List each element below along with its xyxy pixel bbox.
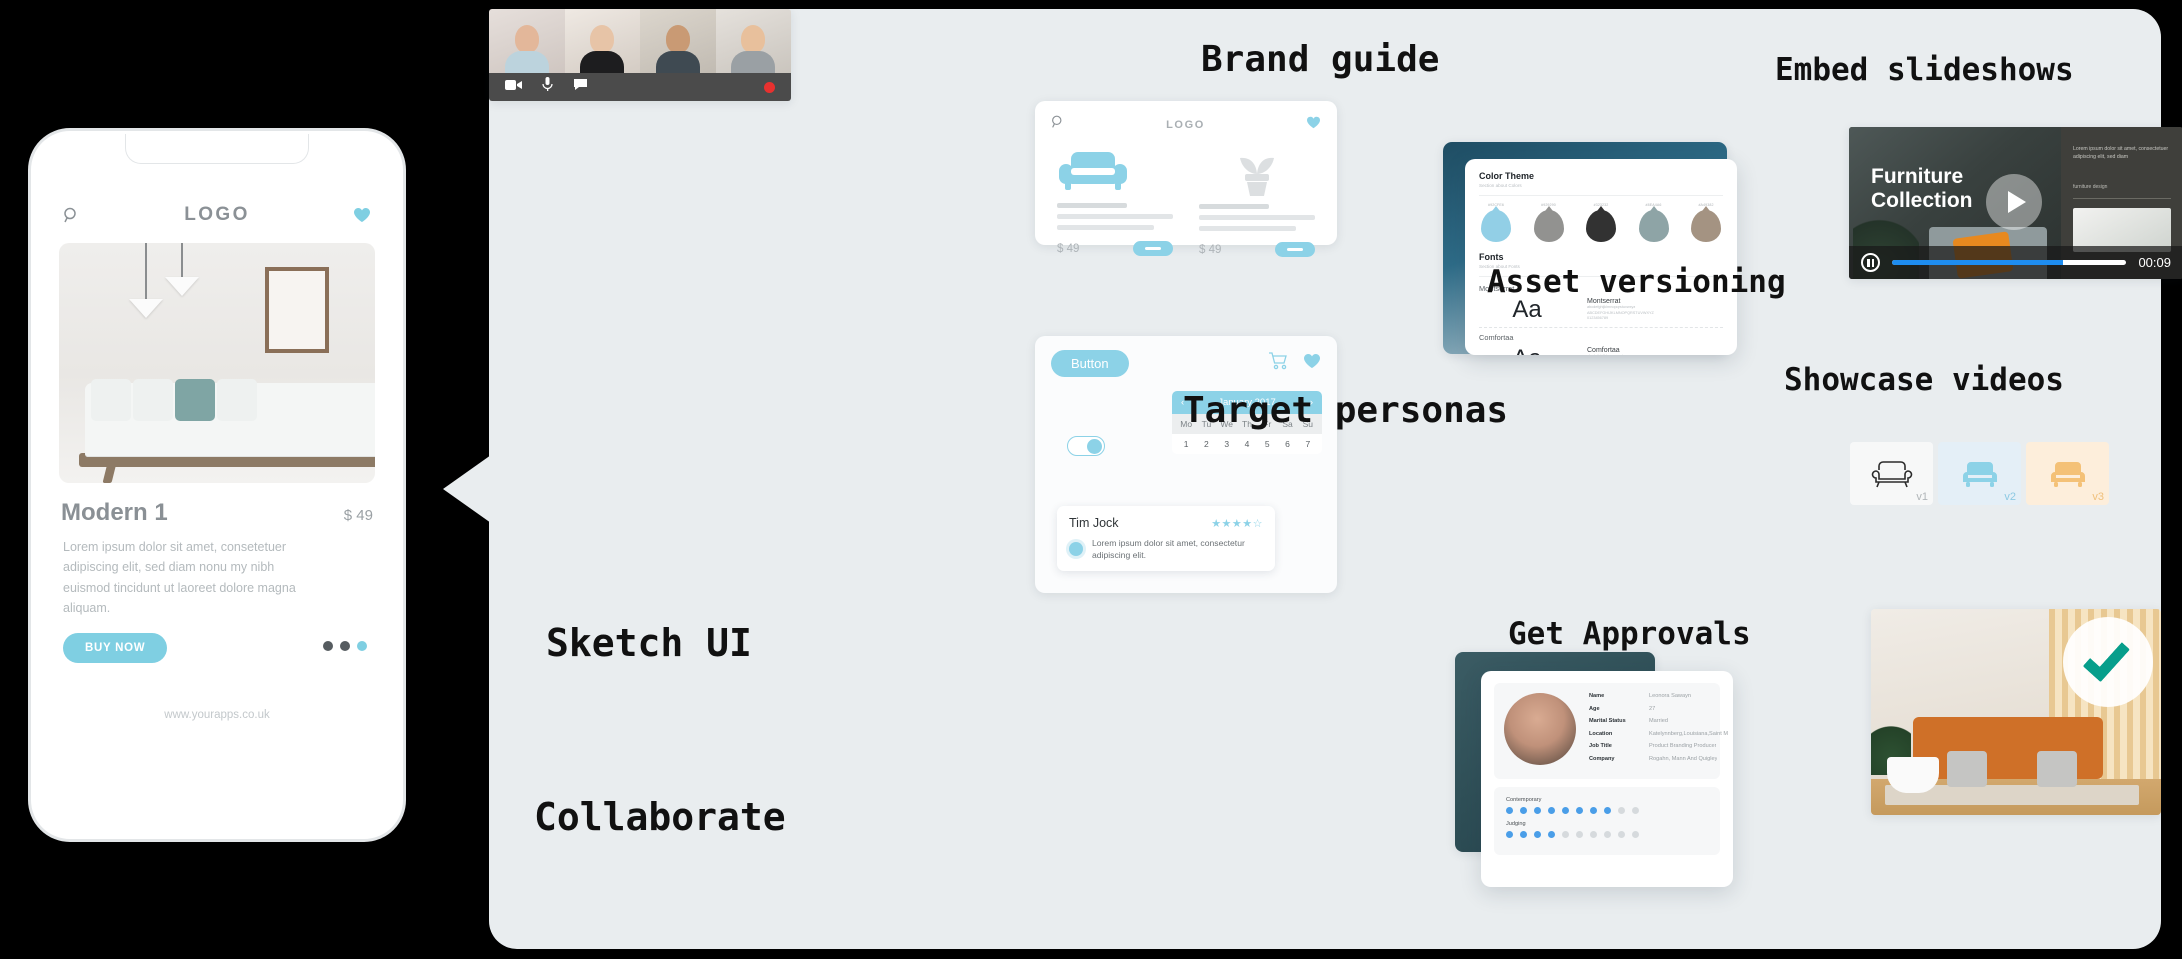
- color-swatch[interactable]: #8EA4A6: [1639, 203, 1669, 242]
- trait-dot: [1562, 807, 1569, 814]
- carousel-dot[interactable]: [323, 641, 333, 651]
- sketch-ui-card-components: Button ‹ January 2017 ›: [1035, 336, 1337, 593]
- review-card: Tim Jock ★★★★☆ Lorem ipsum dolor sit ame…: [1057, 506, 1275, 571]
- play-icon[interactable]: [1986, 174, 2042, 230]
- heading-showcase-videos: Showcase videos: [1784, 362, 2064, 398]
- microphone-icon[interactable]: [542, 77, 553, 97]
- participant-body: [656, 51, 700, 73]
- trait-dot: [1548, 831, 1555, 838]
- heading-embed-slideshows: Embed slideshows: [1775, 52, 2074, 88]
- cushion: [217, 379, 257, 421]
- fonts-title: Fonts: [1479, 252, 1723, 262]
- field-value: Leonora Sawayn: [1649, 693, 1691, 699]
- review-body: Lorem ipsum dolor sit amet, consectetur …: [1069, 537, 1263, 561]
- trait-dot: [1520, 807, 1527, 814]
- font-sample-aa: Aa: [1479, 347, 1575, 355]
- placeholder-line: [1199, 204, 1269, 209]
- trait-label: Contemporary: [1506, 797, 1708, 803]
- trait-scale: [1506, 831, 1708, 838]
- trait-dot: [1562, 831, 1569, 838]
- persona-card: Name Leonora Sawayn Age 27 Marital Statu…: [1481, 671, 1733, 887]
- trait-dot: [1590, 807, 1597, 814]
- participant-head: [515, 25, 539, 53]
- persona-field-row: Job Title Product Branding Producer: [1589, 743, 1728, 749]
- swatch-drop: [1691, 210, 1721, 242]
- font-title: Comfortaa: [1587, 347, 1654, 354]
- progress-bar[interactable]: [1892, 260, 2126, 265]
- participant-tile[interactable]: [489, 9, 565, 73]
- progress-fill: [1892, 260, 2063, 265]
- placeholder-line: [1199, 226, 1296, 231]
- asset-version-row: v1 v2 v3: [1850, 442, 2109, 505]
- product-grid: $ 49 $ 49: [1051, 148, 1321, 257]
- trait-dot: [1632, 807, 1639, 814]
- field-value: Rogahn, Mann And Quigley: [1649, 756, 1717, 762]
- font-sample-aa: Aa: [1479, 298, 1575, 322]
- calendar-date[interactable]: 7: [1298, 439, 1318, 449]
- add-to-cart-button[interactable]: [1133, 241, 1173, 256]
- brand-guide-card: Color Theme Section about Colors #92CFE6…: [1465, 159, 1737, 355]
- video-title-line1: Furniture: [1871, 165, 1963, 188]
- calendar-date[interactable]: 4: [1237, 439, 1257, 449]
- heart-icon[interactable]: [1306, 116, 1321, 134]
- phone-frame: LOGO Modern 1 $ 49 Lo: [28, 128, 406, 842]
- trait-dot: [1604, 807, 1611, 814]
- asset-version-item[interactable]: v1: [1850, 442, 1933, 505]
- video-title: Furniture Collection: [1871, 165, 1973, 214]
- product-price: $ 49: [1057, 243, 1079, 255]
- trait-dot: [1576, 831, 1583, 838]
- font-specimen-row: Aa Comfortaa abcdefghijklmnopqrstuvwxyz …: [1479, 347, 1723, 355]
- placeholder-line: [1057, 225, 1154, 230]
- color-swatch[interactable]: #929290: [1534, 203, 1564, 242]
- participant-head: [590, 25, 614, 53]
- feature-panel: LOGO: [489, 9, 2161, 949]
- heading-collaborate: Collaborate: [534, 795, 786, 839]
- product-cell[interactable]: $ 49: [1199, 148, 1315, 257]
- participant-head: [741, 25, 765, 53]
- video-timestamp: 00:09: [2138, 255, 2171, 270]
- phone-notch: [125, 134, 309, 164]
- search-icon[interactable]: [63, 207, 89, 224]
- asset-version-item[interactable]: v3: [2026, 442, 2109, 505]
- camera-icon[interactable]: [505, 78, 522, 96]
- trait-dot: [1506, 807, 1513, 814]
- video-participants: [489, 9, 791, 73]
- product-price-row: $ 49: [1057, 241, 1173, 256]
- cushion: [2037, 751, 2077, 787]
- demo-button[interactable]: Button: [1051, 350, 1129, 377]
- phone-mockup: LOGO Modern 1 $ 49 Lo: [28, 128, 406, 842]
- sketch-card-topbar: LOGO: [1051, 115, 1321, 134]
- collaborate-card: [489, 9, 791, 101]
- buy-now-button[interactable]: BUY NOW: [63, 633, 167, 663]
- sketch-card-logo: LOGO: [1065, 119, 1306, 131]
- heading-get-approvals: Get Approvals: [1508, 616, 1751, 652]
- cushion: [91, 379, 131, 421]
- trait-dot: [1604, 831, 1611, 838]
- persona-field-row: Marital Status Married: [1589, 718, 1728, 724]
- participant-tile[interactable]: [640, 9, 716, 73]
- calendar-dates: 1 2 3 4 5 6 7: [1172, 434, 1322, 454]
- placeholder-line: [1057, 203, 1127, 208]
- carousel-dot[interactable]: [340, 641, 350, 651]
- version-label: v2: [2004, 491, 2016, 503]
- heading-sketch-ui: Sketch UI: [546, 621, 752, 665]
- version-label: v1: [1916, 491, 1928, 503]
- trait-dot: [1618, 807, 1625, 814]
- call-controls: [489, 73, 791, 101]
- reviewer-name: Tim Jock: [1069, 516, 1119, 530]
- persona-traits-panel: Contemporary Judging: [1494, 787, 1720, 855]
- trait-dot: [1576, 807, 1583, 814]
- field-label: Job Title: [1589, 743, 1649, 749]
- trait-dot: [1632, 831, 1639, 838]
- carousel-dots[interactable]: [323, 641, 367, 651]
- calendar-date[interactable]: 2: [1196, 439, 1216, 449]
- trait-dot: [1506, 831, 1513, 838]
- toggle-switch[interactable]: [1067, 436, 1105, 456]
- calendar-date[interactable]: 1: [1176, 439, 1196, 449]
- version-label: v3: [2092, 491, 2104, 503]
- persona-field-row: Company Rogahn, Mann And Quigley: [1589, 756, 1728, 762]
- placeholder-line: [1199, 215, 1315, 220]
- carousel-dot-active[interactable]: [357, 641, 367, 651]
- heading-brand-guide: Brand guide: [1201, 39, 1439, 80]
- trait-label: Judging: [1506, 821, 1708, 827]
- search-icon[interactable]: [1051, 115, 1065, 134]
- video-controls: 00:09: [1849, 246, 2182, 279]
- swatch-drop: [1586, 210, 1616, 242]
- sofa-blue-icon: [1958, 459, 2002, 489]
- participant-body: [731, 51, 775, 73]
- color-swatch[interactable]: #A49382: [1691, 203, 1721, 242]
- font-lowercase: abcdefghijklmnopqrstuvwxyz: [1587, 354, 1654, 355]
- product-title-row: Modern 1 $ 49: [61, 499, 373, 527]
- placeholder-line: [1057, 214, 1173, 219]
- color-theme-title: Color Theme: [1479, 171, 1723, 181]
- cart-icon[interactable]: [1268, 352, 1289, 375]
- calendar-date[interactable]: 5: [1257, 439, 1277, 449]
- avatar: [1069, 542, 1083, 556]
- trait-dot: [1534, 831, 1541, 838]
- persona-field-row: Age 27: [1589, 706, 1728, 712]
- heading-target-personas: Target personas: [1183, 390, 1508, 431]
- video-player-card[interactable]: Furniture Collection Lorem ipsum dolor s…: [1849, 127, 2182, 279]
- color-swatch[interactable]: #92CFE6: [1481, 203, 1511, 242]
- check-icon: [2083, 633, 2130, 682]
- divider: [1479, 327, 1723, 328]
- trait-dot: [1590, 831, 1597, 838]
- asset-version-item[interactable]: v2: [1938, 442, 2021, 505]
- product-hero-image: [59, 243, 375, 483]
- product-price-row: $ 49: [1199, 242, 1315, 257]
- swatch-drop: [1534, 210, 1564, 242]
- color-swatch[interactable]: #323232: [1586, 203, 1616, 242]
- heart-icon[interactable]: [345, 207, 371, 223]
- persona-field-row: Name Leonora Sawayn: [1589, 693, 1728, 699]
- field-label: Marital Status: [1589, 718, 1649, 724]
- field-value: Married: [1649, 718, 1668, 724]
- participant-body: [580, 51, 624, 73]
- trait-dot: [1548, 807, 1555, 814]
- chat-bubble-icon[interactable]: [573, 78, 588, 96]
- heart-icon[interactable]: [1303, 353, 1321, 374]
- product-description: Lorem ipsum dolor sit amet, consetetuer …: [63, 537, 321, 618]
- toggle-knob: [1087, 439, 1102, 454]
- approval-badge: [2063, 617, 2153, 707]
- review-header: Tim Jock ★★★★☆: [1069, 516, 1263, 530]
- field-value: Katelynnberg,Louisiana,Saint M: [1649, 731, 1728, 737]
- cushion: [1947, 751, 1987, 787]
- trait-dot: [1618, 831, 1625, 838]
- phone-topbar: LOGO: [31, 191, 403, 239]
- trait-dot: [1520, 831, 1527, 838]
- persona-detail-panel: Name Leonora Sawayn Age 27 Marital Statu…: [1494, 683, 1720, 779]
- product-price: $ 49: [344, 507, 373, 524]
- participant-head: [666, 25, 690, 53]
- cushion-accent: [175, 379, 215, 421]
- pause-icon[interactable]: [1861, 253, 1880, 272]
- participant-tile[interactable]: [565, 9, 641, 73]
- field-label: Location: [1589, 731, 1649, 737]
- trait-dot: [1534, 807, 1541, 814]
- field-value: 27: [1649, 706, 1655, 712]
- avatar: [1504, 693, 1576, 765]
- video-title-line2: Collection: [1871, 189, 1973, 212]
- field-label: Age: [1589, 706, 1649, 712]
- participant-tile[interactable]: [716, 9, 792, 73]
- swatch-drop: [1481, 210, 1511, 242]
- product-cell[interactable]: $ 49: [1057, 148, 1173, 257]
- panel-pointer: [443, 455, 491, 523]
- video-sidebar-text: Lorem ipsum dolor sit amet, consectetuer…: [2073, 145, 2171, 162]
- sofa-icon: [1057, 148, 1129, 192]
- calendar-date[interactable]: 6: [1277, 439, 1297, 449]
- wall-frame: [265, 267, 329, 353]
- font-digits: 0123456789: [1587, 316, 1654, 322]
- calendar-date[interactable]: 3: [1217, 439, 1237, 449]
- cushion: [133, 379, 173, 421]
- pendant-lamp-icon: [181, 243, 183, 279]
- divider: [1479, 195, 1723, 196]
- persona-field-row: Location Katelynnberg,Louisiana,Saint M: [1589, 731, 1728, 737]
- phone-url: www.yourapps.co.uk: [31, 709, 403, 721]
- field-label: Company: [1589, 756, 1649, 762]
- product-title: Modern 1: [61, 499, 168, 527]
- components-topbar: Button: [1051, 350, 1321, 377]
- color-theme-subtitle: Section about Colors: [1479, 183, 1723, 188]
- phone-logo: LOGO: [89, 204, 345, 226]
- heading-asset-versioning: Asset versioning: [1487, 264, 1786, 300]
- add-to-cart-button[interactable]: [1275, 242, 1315, 257]
- plant-icon: [1228, 148, 1286, 198]
- record-dot-icon[interactable]: [764, 82, 775, 93]
- rating-stars: ★★★★☆: [1211, 517, 1263, 530]
- review-text: Lorem ipsum dolor sit amet, consectetur …: [1092, 537, 1263, 561]
- color-swatches: #92CFE6 #929290 #323232 #8EA4A6 #A49382: [1479, 203, 1723, 242]
- divider: [2073, 198, 2171, 199]
- font-name-label: Comfortaa: [1479, 333, 1723, 342]
- sofa-orange-icon: [2046, 459, 2090, 489]
- field-value: Product Branding Producer: [1649, 743, 1716, 749]
- product-price: $ 49: [1199, 244, 1221, 256]
- sofa-outline-icon: [1870, 459, 1914, 489]
- swatch-drop: [1639, 210, 1669, 242]
- video-sidebar-subtitle: furniture design: [2073, 184, 2171, 190]
- field-label: Name: [1589, 693, 1649, 699]
- trait-scale: [1506, 807, 1708, 814]
- pendant-lamp-icon: [145, 243, 147, 301]
- side-table: [1887, 757, 1939, 793]
- font-specimen-row: Aa Montserrat abcdefghijklmnopqrstuvwxyz…: [1479, 298, 1723, 322]
- topbar-icons: [1268, 352, 1321, 375]
- persona-fields: Name Leonora Sawayn Age 27 Marital Statu…: [1589, 693, 1728, 769]
- get-approvals-card: [1871, 609, 2161, 815]
- screenshot-root: LOGO Modern 1 $ 49 Lo: [0, 0, 2182, 959]
- sketch-ui-card-products: LOGO: [1035, 101, 1337, 245]
- participant-body: [505, 51, 549, 73]
